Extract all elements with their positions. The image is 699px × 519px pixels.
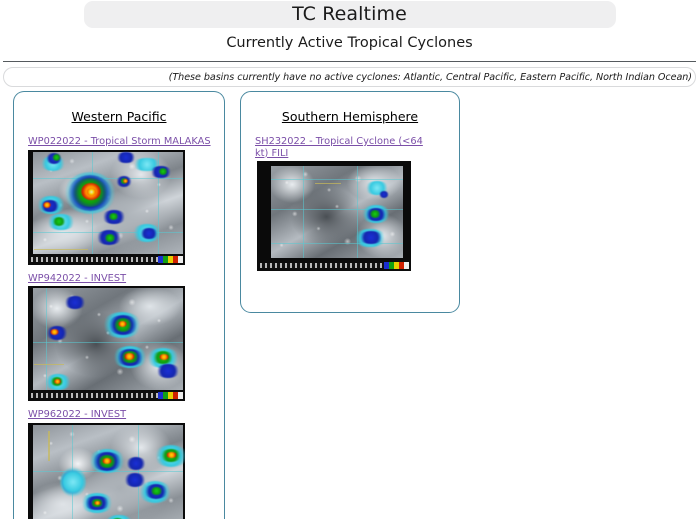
sat-frame xyxy=(28,286,185,401)
satellite-image-wp022022[interactable] xyxy=(28,150,185,265)
sat-frame xyxy=(28,423,185,519)
cloud-blob xyxy=(108,213,119,220)
title-banner: TC Realtime xyxy=(84,1,616,28)
cloud-blob xyxy=(50,329,59,335)
cloud-blob xyxy=(359,231,383,244)
storm-link-wp962022[interactable]: WP962022 - INVEST xyxy=(28,409,214,421)
notice-text: (These basins currently have no active c… xyxy=(169,72,692,83)
sat-annotation-strip xyxy=(257,260,411,271)
gridline-longitude xyxy=(303,166,304,258)
cloud-blob xyxy=(166,452,177,458)
sat-annotation-strip xyxy=(28,254,185,265)
storm-eye xyxy=(87,188,96,196)
sat-label-text xyxy=(31,393,158,398)
cloud-blob xyxy=(60,467,86,497)
cloud-blob xyxy=(52,217,66,226)
sat-frame xyxy=(28,150,185,265)
storm-entry: WP022022 - Tropical Storm MALAKAS xyxy=(24,136,214,265)
cloud-blob xyxy=(369,210,381,218)
storm-link-wp942022[interactable]: WP942022 - INVEST xyxy=(28,273,214,285)
cloud-blob xyxy=(126,457,146,470)
cloud-blob xyxy=(159,354,169,360)
satellite-image-sh232022[interactable] xyxy=(257,161,411,271)
cloud-blob xyxy=(140,228,158,239)
cloud-blob xyxy=(150,487,163,495)
storm-entry: WP962022 - INVEST xyxy=(24,409,214,519)
panel-inner-southern-hemisphere: Southern Hemisphere SH232022 - Tropical … xyxy=(241,92,459,312)
coastline-overlay xyxy=(315,183,341,184)
cloud-blob xyxy=(156,364,180,378)
basin-title-southern-hemisphere: Southern Hemisphere xyxy=(251,109,449,124)
sat-label-text xyxy=(260,263,384,268)
sat-annotation-strip xyxy=(28,390,185,401)
sat-label-text xyxy=(31,257,158,262)
cloud-blob xyxy=(158,168,168,175)
coastline-overlay xyxy=(34,364,64,365)
sat-frame xyxy=(257,161,411,271)
basin-title-western-pacific: Western Pacific xyxy=(24,109,214,124)
coastline-overlay xyxy=(48,431,50,461)
cloud-blob xyxy=(54,379,61,384)
cloud-blob xyxy=(94,501,101,505)
no-active-cyclones-notice: (These basins currently have no active c… xyxy=(3,67,696,87)
sat-color-scale xyxy=(384,262,409,269)
coastline-overlay xyxy=(34,249,88,250)
basin-panel-southern-hemisphere: Southern Hemisphere SH232022 - Tropical … xyxy=(240,91,460,313)
basin-panels-container: Western Pacific WP022022 - Tropical Stor… xyxy=(0,91,699,519)
cloud-blob xyxy=(123,179,128,183)
cloud-blob xyxy=(64,296,86,309)
page-header: TC Realtime Currently Active Tropical Cy… xyxy=(0,0,699,62)
panel-inner-western-pacific: Western Pacific WP022022 - Tropical Stor… xyxy=(14,92,224,519)
cloud-blob xyxy=(43,202,51,208)
cloud-blob xyxy=(379,191,389,198)
sat-color-scale xyxy=(158,256,183,263)
gridline-latitude xyxy=(33,342,183,343)
satellite-image-wp962022[interactable] xyxy=(28,423,185,519)
gridline-latitude xyxy=(271,179,403,180)
storm-entry: SH232022 - Tropical Cyclone (<64 kt) FIL… xyxy=(251,136,449,271)
storm-link-sh232022[interactable]: SH232022 - Tropical Cyclone (<64 kt) FIL… xyxy=(255,136,427,159)
satellite-image-wp942022[interactable] xyxy=(28,286,185,401)
sat-color-scale xyxy=(158,392,183,399)
header-divider xyxy=(3,61,696,62)
page-subtitle: Currently Active Tropical Cyclones xyxy=(0,34,699,53)
cloud-blob xyxy=(102,458,112,464)
cloud-blob xyxy=(52,154,61,161)
gridline-longitude xyxy=(46,288,47,390)
basin-panel-western-pacific: Western Pacific WP022022 - Tropical Stor… xyxy=(13,91,225,519)
page-title: TC Realtime xyxy=(84,3,616,25)
cloud-blob xyxy=(104,234,116,242)
storm-link-wp022022[interactable]: WP022022 - Tropical Storm MALAKAS xyxy=(28,136,214,148)
cloud-blob xyxy=(118,321,127,327)
gridline-longitude xyxy=(138,425,139,519)
storm-entry: WP942022 - INVEST xyxy=(24,273,214,402)
cloud-blob xyxy=(124,353,135,360)
